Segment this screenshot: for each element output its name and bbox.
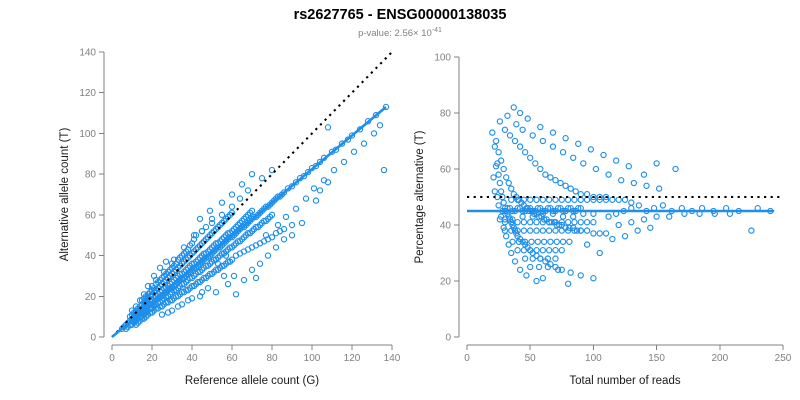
figure-background [0,0,800,400]
y-axis-tick-label: 140 [79,48,96,59]
x-axis-tick-label: 0 [109,353,115,364]
y-axis-tick-label: 80 [440,109,452,120]
x-axis-tick-label: 40 [186,353,198,364]
y-axis-tick-label: 60 [85,210,97,221]
x-axis-label: Reference allele count (G) [185,375,319,387]
subtitle-exponent: -41 [432,27,442,34]
figure-subtitle: p-value: 2.56× 10-41 [358,27,442,39]
y-axis-tick-label: 100 [434,53,451,64]
x-axis-tick-label: 60 [226,353,238,364]
x-axis-tick-label: 150 [648,353,665,364]
y-axis-tick-label: 100 [79,129,96,140]
x-axis-tick-label: 20 [146,353,158,364]
x-axis-tick-label: 100 [304,353,321,364]
y-axis-tick-label: 60 [440,165,452,176]
subtitle-pvalue-prefix: p-value: 2.56 [358,28,413,39]
y-axis-label: Percentage alternative (T) [414,130,426,263]
figure-title: rs2627765 - ENSG00000138035 [294,7,507,23]
x-axis-tick-label: 140 [384,353,401,364]
x-axis-tick-label: 80 [266,353,278,364]
ase-figure: rs2627765 - ENSG00000138035 p-value: 2.5… [0,0,800,400]
x-axis-tick-label: 100 [585,353,602,364]
y-axis-tick-label: 120 [79,88,96,99]
x-axis-tick-label: 200 [711,353,728,364]
y-axis-label: Alternative allele count (T) [59,128,71,262]
subtitle-base: 10 [419,28,432,39]
x-axis-label: Total number of reads [569,375,680,387]
x-axis-tick-label: 120 [344,353,361,364]
y-axis-tick-label: 0 [445,333,451,344]
y-axis-tick-label: 40 [85,251,97,262]
y-axis-tick-label: 80 [85,170,97,181]
x-axis-tick-label: 250 [775,353,792,364]
y-axis-tick-label: 20 [85,292,97,303]
y-axis-tick-label: 20 [440,277,452,288]
y-axis-tick-label: 0 [90,333,96,344]
x-axis-tick-label: 50 [525,353,537,364]
y-axis-tick-label: 40 [440,221,452,232]
x-axis-tick-label: 0 [464,353,470,364]
